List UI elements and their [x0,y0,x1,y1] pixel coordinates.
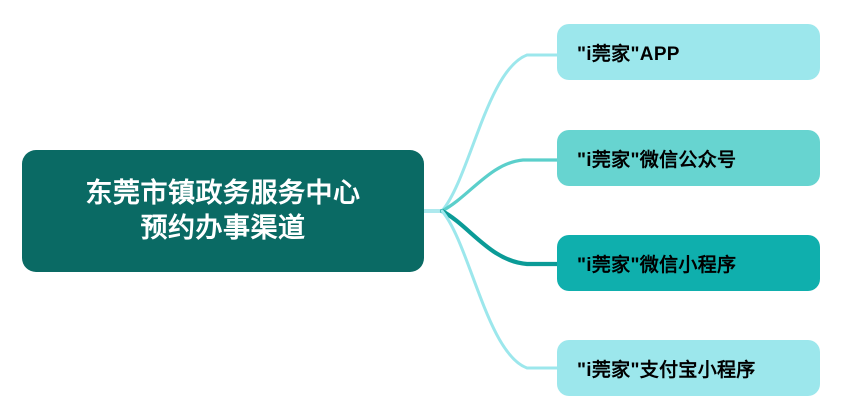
connector-branch-4 [442,211,558,368]
root-label-line-2: 预约办事渠道 [141,213,306,243]
root-label-line-1: 东莞市镇政务服务中心 [86,178,361,208]
branch-node-3[interactable]: "i莞家"微信小程序 [557,235,820,291]
root-node-label: 东莞市镇政务服务中心 预约办事渠道 [86,176,361,245]
branch-node-4-label: "i莞家"支付宝小程序 [557,355,756,382]
connector-branch-3 [442,211,558,264]
connector-branch-2 [442,160,558,211]
branch-node-1-label: "i莞家"APP [557,39,680,66]
connector-branch-1 [442,55,558,211]
branch-node-4[interactable]: "i莞家"支付宝小程序 [557,340,820,396]
branch-node-2-label: "i莞家"微信公众号 [557,145,736,172]
branch-node-3-label: "i莞家"微信小程序 [557,250,736,277]
mind-map-canvas: 东莞市镇政务服务中心 预约办事渠道 "i莞家"APP "i莞家"微信公众号 "i… [0,0,859,420]
branch-node-1[interactable]: "i莞家"APP [557,24,820,80]
branch-node-2[interactable]: "i莞家"微信公众号 [557,130,820,186]
root-node[interactable]: 东莞市镇政务服务中心 预约办事渠道 [22,150,424,272]
